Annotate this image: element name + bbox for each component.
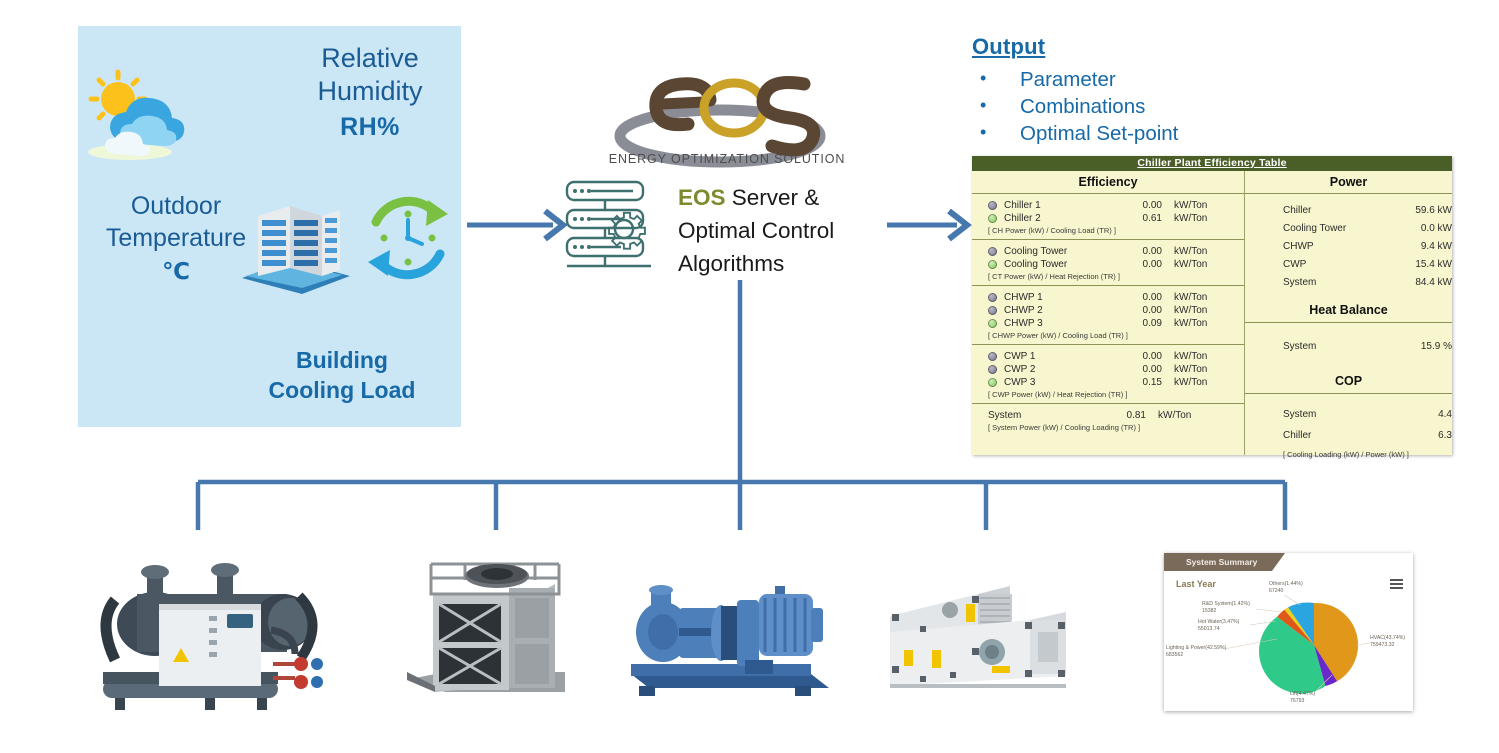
arrow-server-to-output	[885, 208, 980, 242]
relative-humidity-label: Relative Humidity	[265, 42, 475, 108]
relative-humidity-value: RH%	[265, 113, 475, 142]
status-dot-off	[988, 247, 997, 256]
table-title: Chiller Plant Efficiency Table	[972, 156, 1452, 171]
row-value: 15.4 kW	[1380, 259, 1452, 270]
row-value: 0.00	[1122, 200, 1162, 211]
output-item-optimal-setpoint: Optimal Set-point	[972, 120, 1272, 147]
server-line1-rest: Server &	[726, 185, 820, 210]
server-text: EOS Server & Optimal Control Algorithms	[678, 181, 898, 280]
row-name: Cooling Tower	[1004, 246, 1122, 257]
pie-label-lighting: Lighting & Power(42.59%) 683562	[1166, 645, 1226, 659]
efficiency-header: Efficiency	[972, 171, 1244, 194]
row-unit: kW/Ton	[1162, 213, 1207, 224]
server-gear-icon	[561, 178, 657, 272]
table-row: Chiller 1 0.00 kW/Ton	[972, 199, 1244, 212]
row-value: 9.4 kW	[1380, 241, 1452, 252]
table-row: Chiller 2 0.61 kW/Ton	[972, 212, 1244, 225]
chiller-image	[85, 552, 335, 712]
eos-bold-text: EOS	[678, 185, 726, 210]
power-header: Power	[1245, 171, 1452, 194]
pump-image	[625, 578, 835, 698]
pie-label-hotwater: Hot Water(3.47%) 55013.74	[1198, 619, 1239, 633]
server-line2: Optimal Control	[678, 214, 898, 247]
table-row: Cooling Tower 0.0 kW	[1245, 219, 1452, 237]
status-dot-on	[988, 214, 997, 223]
ahu-image	[880, 576, 1080, 696]
row-unit: kW/Ton	[1162, 259, 1207, 270]
output-block: Output Parameter Combinations Optimal Se…	[972, 34, 1272, 147]
efficiency-group-chiller: Chiller 1 0.00 kW/Ton Chiller 2 0.61 kW/…	[972, 194, 1244, 240]
server-line3: Algorithms	[678, 247, 898, 280]
row-value: 0.00	[1122, 246, 1162, 257]
row-name: CWP	[1245, 259, 1380, 270]
row-name: Cooling Tower	[1004, 259, 1122, 270]
sun-cloud-icon	[82, 66, 200, 166]
row-value: 0.0 kW	[1380, 223, 1452, 234]
table-row: Chiller 59.6 kW	[1245, 201, 1452, 219]
output-list: Parameter Combinations Optimal Set-point	[972, 66, 1272, 147]
system-summary-tab[interactable]: System Summary	[1164, 553, 1272, 571]
cycle-arrows-icon	[362, 192, 454, 284]
status-dot-on	[988, 260, 997, 269]
eos-logo-caption: ENERGY OPTIMIZATION SOLUTION	[596, 152, 858, 166]
output-item-combinations: Combinations	[972, 93, 1272, 120]
group-note: [ CH Power (kW) / Cooling Load (TR) ]	[972, 225, 1244, 236]
system-summary-card[interactable]: System Summary Last Year	[1164, 553, 1413, 711]
row-unit: kW/Ton	[1162, 200, 1207, 211]
row-value: 59.6 kW	[1380, 205, 1452, 216]
table-row: Cooling Tower 0.00 kW/Ton	[972, 245, 1244, 258]
table-row: CHWP 9.4 kW	[1245, 237, 1452, 255]
cooling-tower-image	[405, 560, 575, 708]
output-item-parameter: Parameter	[972, 66, 1272, 93]
row-value: 0.61	[1122, 213, 1162, 224]
table-row: Cooling Tower 0.00 kW/Ton	[972, 258, 1244, 271]
row-name: CHWP	[1245, 241, 1380, 252]
output-title: Output	[972, 34, 1272, 60]
connector-tree	[0, 280, 1499, 530]
row-unit: kW/Ton	[1162, 246, 1207, 257]
table-row: CWP 15.4 kW	[1245, 255, 1452, 273]
row-value: 0.00	[1122, 259, 1162, 270]
row-name: Cooling Tower	[1245, 223, 1380, 234]
row-name: Chiller	[1245, 205, 1380, 216]
pie-label-rnd: R&D System(1.42%) 15382	[1202, 601, 1250, 615]
pie-label-lift: Lift(4.47%) 76793	[1290, 691, 1315, 705]
status-dot-off	[988, 201, 997, 210]
row-name: Chiller 1	[1004, 200, 1122, 211]
pie-label-hvac: HVAC(43.74%) 759473.32	[1370, 635, 1405, 649]
pie-label-others: Others(1.44%) 67240	[1269, 581, 1303, 595]
energy-breakdown-pie-chart: Others(1.44%) 67240 R&D System(1.42%) 15…	[1164, 587, 1413, 707]
row-name: Chiller 2	[1004, 213, 1122, 224]
